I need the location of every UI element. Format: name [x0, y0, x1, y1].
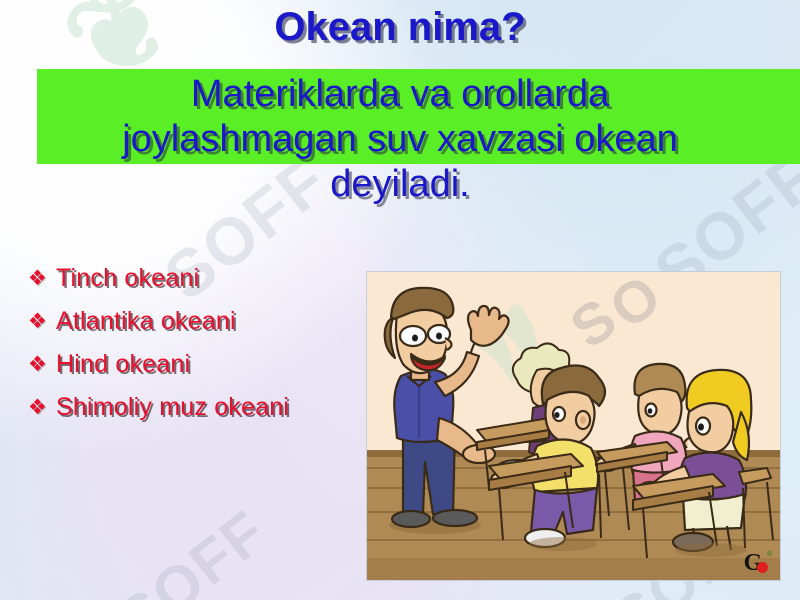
list-item-label: Shimoliy muz okeani — [56, 391, 289, 423]
slide-subtitle: Materiklarda va orollarda joylashmagan s… — [0, 72, 800, 206]
subtitle-line: joylashmagan suv xavzasi okean — [6, 117, 794, 162]
classroom-illustration: S O — [367, 272, 780, 580]
diamond-bullet-icon: ❖ — [28, 391, 56, 418]
diamond-bullet-icon: ❖ — [28, 348, 56, 375]
slide-title: Okean nima? — [0, 6, 800, 48]
diamond-bullet-icon: ❖ — [28, 262, 56, 289]
list-item: ❖ Shimoliy muz okeani — [28, 391, 358, 423]
list-item-label: Atlantika okeani — [56, 305, 236, 337]
ocean-bullet-list: ❖ Tinch okeani ❖ Atlantika okeani ❖ Hind… — [28, 262, 358, 434]
registered-mark-icon: ® — [767, 551, 772, 558]
list-item: ❖ Hind okeani — [28, 348, 358, 380]
slide-canvas: ❦ ❦ SOFF SOFF SOFF SOFF Okean nima? Mate… — [0, 0, 800, 600]
diamond-bullet-icon: ❖ — [28, 305, 56, 332]
list-item-label: Hind okeani — [56, 348, 190, 380]
list-item: ❖ Atlantika okeani — [28, 305, 358, 337]
list-item: ❖ Tinch okeani — [28, 262, 358, 294]
subtitle-line: Materiklarda va orollarda — [6, 72, 794, 117]
brand-logo: G ® — [732, 550, 774, 576]
subtitle-line: deyiladi. — [6, 162, 794, 207]
soff-watermark: SOFF — [105, 497, 280, 600]
list-item-label: Tinch okeani — [56, 262, 199, 294]
logo-dot-icon — [757, 562, 768, 573]
